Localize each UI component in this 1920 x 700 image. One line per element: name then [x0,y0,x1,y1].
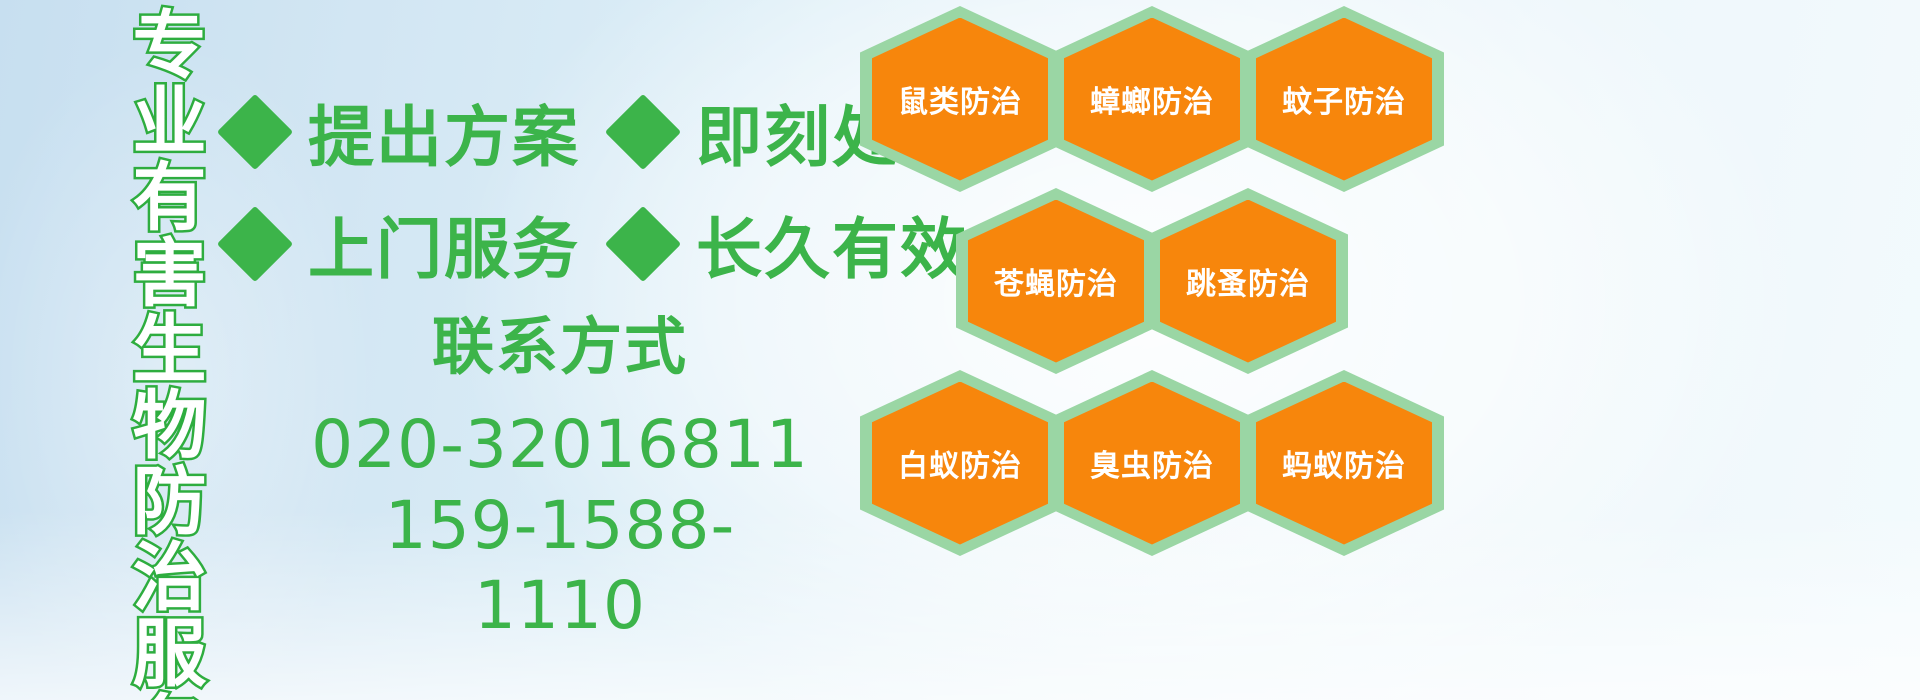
hex-label: 苍蝇防治 [994,259,1118,303]
hex-label: 鼠类防治 [898,77,1022,121]
hex-inner: 跳蚤防治 [1160,200,1336,363]
hex-cell-ant[interactable]: 蚂蚁防治 [1244,370,1444,556]
hex-inner: 蚊子防治 [1256,18,1432,181]
phone-mobile[interactable]: 159-1588-1110 [300,486,820,647]
hex-cell-cockroach[interactable]: 蟑螂防治 [1052,6,1252,192]
hex-inner: 蟑螂防治 [1064,18,1240,181]
feature-label-3: 上门服务 [308,196,580,292]
feature-label-1: 提出方案 [308,84,580,180]
diamond-bullet-icon [605,206,681,282]
honeycomb-grid: 鼠类防治 蟑螂防治 蚊子防治 苍蝇防治 跳蚤防治 白蚁防治 [846,0,1466,580]
hex-inner: 白蚁防治 [872,382,1048,545]
hex-inner: 蚂蚁防治 [1256,382,1432,545]
hex-cell-fly[interactable]: 苍蝇防治 [956,188,1156,374]
hex-cell-bedbug[interactable]: 臭虫防治 [1052,370,1252,556]
contact-block: 联系方式 020-32016811 159-1588-1110 [300,314,820,647]
diamond-bullet-icon [605,94,681,170]
hex-label: 臭虫防治 [1090,441,1214,485]
banner-root: 专业有害生物防治服务 提出方案 即刻处理 上门服务 长久有效 联系方式 020-… [0,0,1920,700]
hex-cell-mosquito[interactable]: 蚊子防治 [1244,6,1444,192]
hex-label: 白蚁防治 [898,441,1022,485]
hex-inner: 鼠类防治 [872,18,1048,181]
hex-label: 蚊子防治 [1282,77,1406,121]
hex-cell-termite[interactable]: 白蚁防治 [860,370,1060,556]
phone-landline[interactable]: 020-32016811 [300,405,820,486]
diamond-bullet-icon [217,206,293,282]
hex-label: 跳蚤防治 [1186,259,1310,303]
hex-cell-rodent[interactable]: 鼠类防治 [860,6,1060,192]
hex-inner: 臭虫防治 [1064,382,1240,545]
vertical-slogan: 专业有害生物防治服务 [104,6,200,700]
hex-inner: 苍蝇防治 [968,200,1144,363]
diamond-bullet-icon [217,94,293,170]
contact-title: 联系方式 [300,314,820,379]
hex-label: 蚂蚁防治 [1282,441,1406,485]
hex-cell-flea[interactable]: 跳蚤防治 [1148,188,1348,374]
hex-label: 蟑螂防治 [1090,77,1214,121]
